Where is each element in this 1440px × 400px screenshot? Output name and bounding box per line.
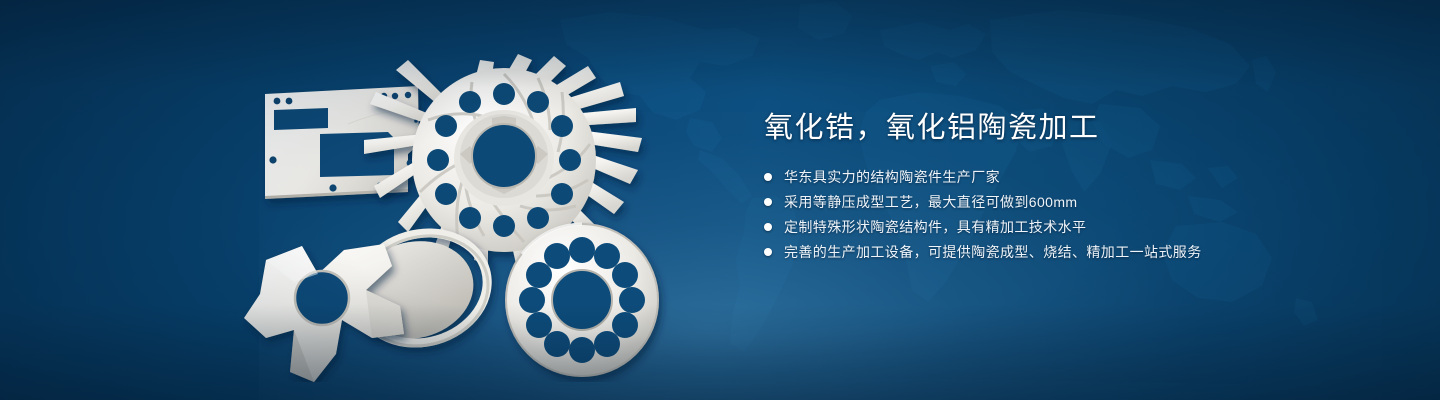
feature-list-item: 采用等静压成型工艺，最大直径可做到600mm (764, 189, 1324, 214)
hero-banner: 氧化锆，氧化铝陶瓷加工 华东具实力的结构陶瓷件生产厂家 采用等静压成型工艺，最大… (0, 0, 1440, 400)
feature-text: 定制特殊形状陶瓷结构件，具有精加工技术水平 (784, 217, 1086, 237)
feature-list-item: 定制特殊形状陶瓷结构件，具有精加工技术水平 (764, 214, 1324, 239)
feature-text: 完善的生产加工设备，可提供陶瓷成型、烧结、精加工一站式服务 (784, 242, 1202, 262)
banner-headline: 氧化锆，氧化铝陶瓷加工 (764, 108, 1324, 148)
feature-text: 华东具实力的结构陶瓷件生产厂家 (784, 167, 1000, 187)
product-photo-group (232, 38, 684, 382)
bullet-dot-icon (764, 173, 772, 181)
bullet-dot-icon (764, 198, 772, 206)
bullet-dot-icon (764, 223, 772, 231)
banner-copy: 氧化锆，氧化铝陶瓷加工 华东具实力的结构陶瓷件生产厂家 采用等静压成型工艺，最大… (764, 108, 1324, 264)
bullet-dot-icon (764, 248, 772, 256)
feature-list-item: 华东具实力的结构陶瓷件生产厂家 (764, 164, 1324, 189)
feature-text: 采用等静压成型工艺，最大直径可做到600mm (784, 192, 1077, 212)
feature-list: 华东具实力的结构陶瓷件生产厂家 采用等静压成型工艺，最大直径可做到600mm 定… (764, 164, 1324, 264)
feature-list-item: 完善的生产加工设备，可提供陶瓷成型、烧结、精加工一站式服务 (764, 239, 1324, 264)
ceramic-perforated-disc (506, 224, 658, 376)
ceramic-cross-blade (244, 244, 404, 382)
